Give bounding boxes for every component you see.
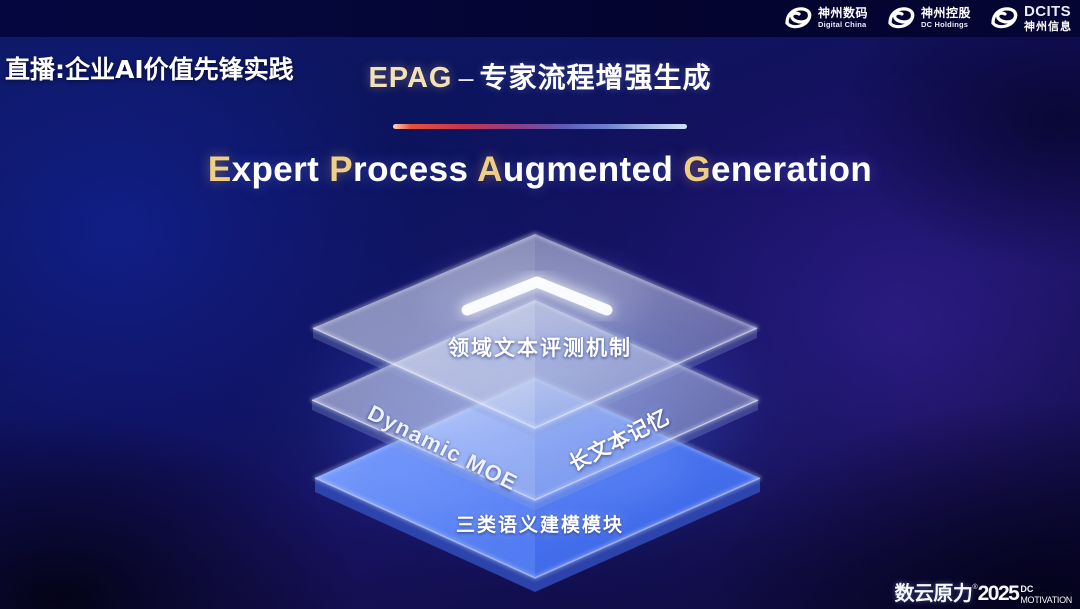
subtitle-cap-p: P [329, 150, 353, 189]
subtitle-rest-expert: xpert [232, 150, 320, 189]
headline-dash: – [459, 63, 474, 93]
subtitle-cap-a: A [477, 150, 503, 189]
subtitle-word-generation: Generation [683, 150, 872, 189]
subtitle-word-augmented: Augmented [477, 150, 673, 189]
partner-dcits-label: 神州信息 DCITS [1024, 4, 1072, 32]
partner-dc-holdings-label: 神州控股 DC Holdings [921, 7, 971, 29]
subtitle-expansion: Expert Process Augmented Generation [0, 150, 1080, 190]
headline-acronym: EPAG [368, 62, 452, 94]
layer-bottom-label: 三类语义建模模块 [0, 510, 1080, 537]
partner-cn: 神州信息 [1024, 21, 1072, 32]
partner-logo-group: 神州数码 Digital China 神州控股 DC Holdings 神州信息… [783, 4, 1072, 32]
swirl-icon [783, 5, 813, 31]
subtitle-word-process: Process [329, 150, 468, 189]
slide-canvas: 领域文本评测机制 Dynamic MOE 长文本记忆 三类语义建模模块 数云原力… [0, 0, 1080, 609]
subtitle-word-expert: Expert [208, 150, 319, 189]
subtitle-cap-e: E [208, 150, 232, 189]
watermark-cn: 数云原力 [894, 582, 972, 605]
footer-watermark-logo: 数云原力 ® 2025 DC MOTIVATION [894, 582, 1072, 606]
headline-chinese: 专家流程增强生成 [480, 61, 712, 94]
subtitle-rest-augmented: ugmented [503, 150, 673, 189]
live-stream-title: 直播:企业AI价值先锋实践 [5, 50, 294, 86]
watermark-dc: DC [1020, 584, 1072, 595]
watermark-year: 2025 [978, 582, 1019, 605]
partner-en: DC Holdings [921, 21, 971, 29]
partner-en: Digital China [818, 21, 868, 29]
partner-cn: 神州控股 [921, 7, 971, 19]
watermark-motivation: MOTIVATION [1020, 595, 1072, 606]
swirl-icon [989, 5, 1019, 31]
partner-cn: 神州数码 [818, 7, 868, 19]
partner-en: DCITS [1024, 4, 1072, 19]
subtitle-rest-generation: eneration [711, 150, 872, 189]
watermark-dc-motivation: DC MOTIVATION [1020, 584, 1072, 606]
subtitle-cap-g: G [683, 150, 711, 189]
gradient-divider [393, 124, 687, 129]
partner-digital-china: 神州数码 Digital China [783, 5, 868, 31]
layer-top-label: 领域文本评测机制 [0, 332, 1080, 362]
swirl-icon [886, 5, 916, 31]
partner-dcits: 神州信息 DCITS [989, 4, 1072, 32]
partner-digital-china-label: 神州数码 Digital China [818, 7, 868, 29]
partner-dc-holdings: 神州控股 DC Holdings [886, 5, 971, 31]
subtitle-rest-process: rocess [353, 150, 468, 189]
